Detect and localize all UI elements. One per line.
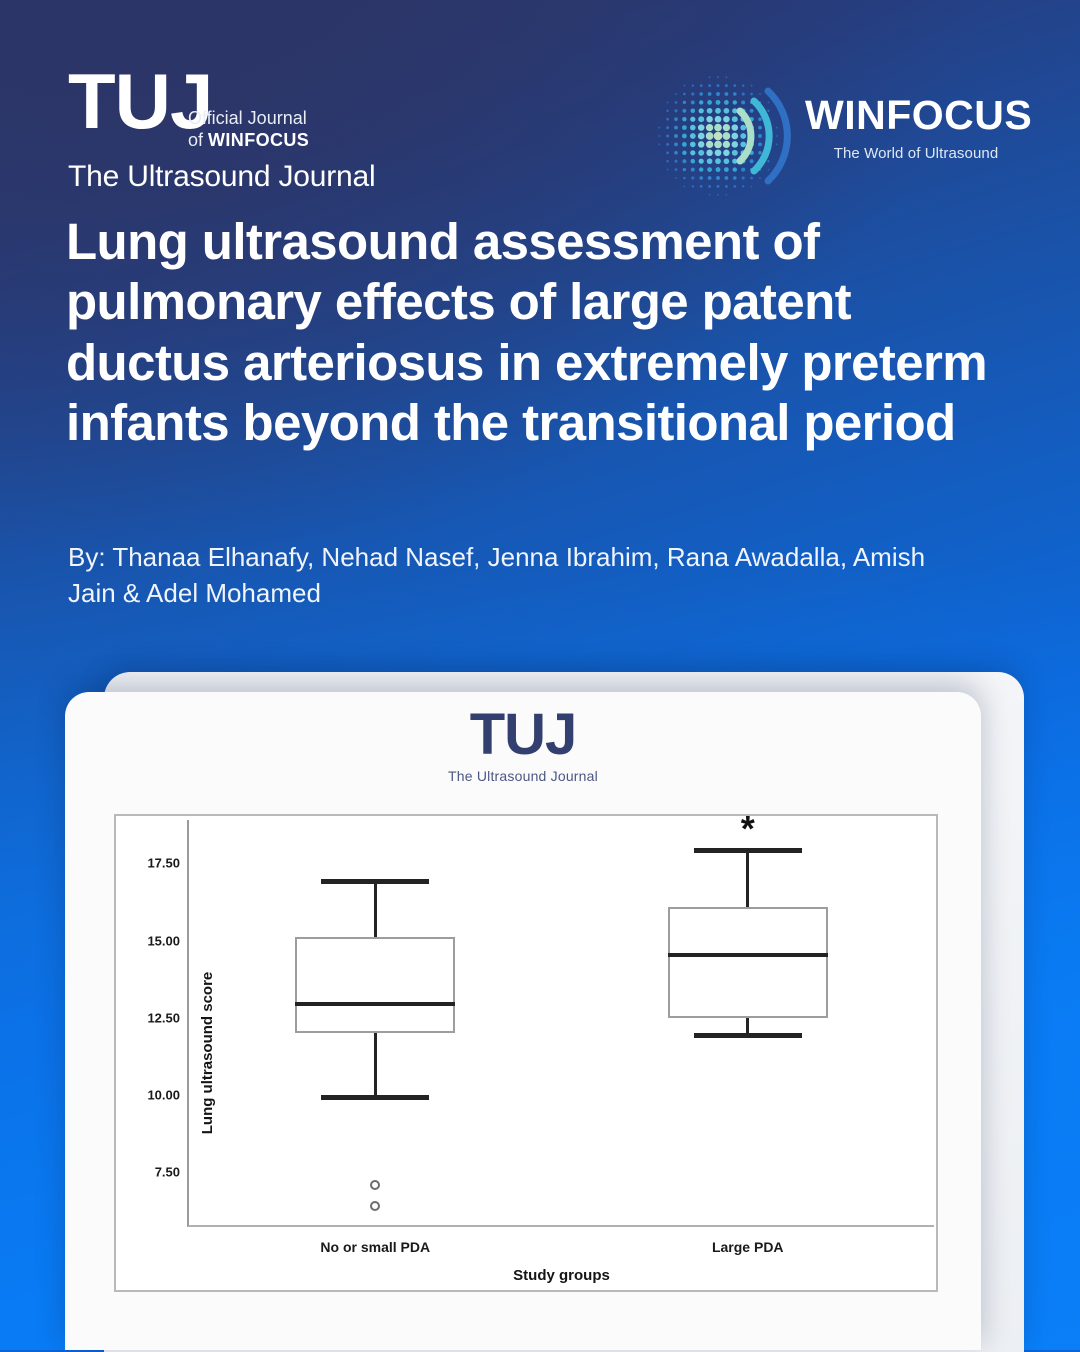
median-line	[668, 953, 828, 957]
article-byline: By: Thanaa Elhanafy, Nehad Nasef, Jenna …	[68, 540, 938, 612]
y-axis-tick: 17.50	[147, 856, 189, 871]
x-axis-label: Study groups	[189, 1267, 934, 1284]
significance-marker: *	[741, 811, 755, 847]
tuj-official-journal-label: Official Journal of WINFOCUS	[188, 108, 309, 152]
header: TUJ Official Journal of WINFOCUS The Ult…	[0, 0, 1080, 200]
boxplot-box	[668, 820, 828, 1231]
article-title: Lung ultrasound assessment of pulmonary …	[66, 212, 996, 454]
official-journal-line2: of WINFOCUS	[188, 130, 309, 152]
figure-card: TUJ The Ultrasound Journal Lung ultrasou…	[65, 692, 981, 1350]
tuj-watermark: TUJ The Ultrasound Journal	[65, 706, 981, 784]
winfocus-text-block: WINFOCUS The World of Ultrasound	[805, 95, 1027, 162]
official-winfocus-bold: WINFOCUS	[208, 130, 309, 150]
box-iqr	[668, 907, 828, 1018]
y-axis-tick: 7.50	[155, 1165, 189, 1180]
winfocus-dot-circle-icon	[655, 73, 791, 199]
whisker-lower-cap	[694, 1033, 802, 1038]
official-journal-line1: Official Journal	[188, 108, 309, 130]
outlier-point	[370, 1180, 380, 1190]
whisker-lower-stem	[746, 1018, 749, 1033]
plot-area: 7.5010.0012.5015.0017.50 * No or small P…	[187, 820, 934, 1227]
watermark-wordmark: TUJ	[65, 706, 981, 764]
y-axis-tick: 12.50	[147, 1010, 189, 1025]
watermark-subtitle: The Ultrasound Journal	[65, 768, 981, 784]
winfocus-tagline: The World of Ultrasound	[805, 145, 1027, 162]
official-of-prefix: of	[188, 130, 208, 150]
tuj-subtitle: The Ultrasound Journal	[68, 160, 375, 194]
whisker-upper-stem	[746, 848, 749, 907]
whisker-lower-stem	[374, 1033, 377, 1095]
x-axis-tick: No or small PDA	[320, 1239, 430, 1255]
winfocus-logo: WINFOCUS The World of Ultrasound	[655, 73, 1027, 198]
boxplot-box	[295, 820, 455, 1231]
box-iqr	[295, 937, 455, 1033]
y-axis-tick: 15.00	[147, 933, 189, 948]
x-axis-tick: Large PDA	[712, 1239, 784, 1255]
whisker-lower-cap	[321, 1095, 429, 1100]
boxplot-chart: Lung ultrasound score 7.5010.0012.5015.0…	[114, 814, 938, 1292]
median-line	[295, 1002, 455, 1006]
whisker-upper-stem	[374, 879, 377, 938]
whisker-upper-cap	[321, 879, 429, 884]
winfocus-wordmark: WINFOCUS	[805, 95, 1027, 136]
outlier-point	[370, 1201, 380, 1211]
y-axis-tick: 10.00	[147, 1088, 189, 1103]
